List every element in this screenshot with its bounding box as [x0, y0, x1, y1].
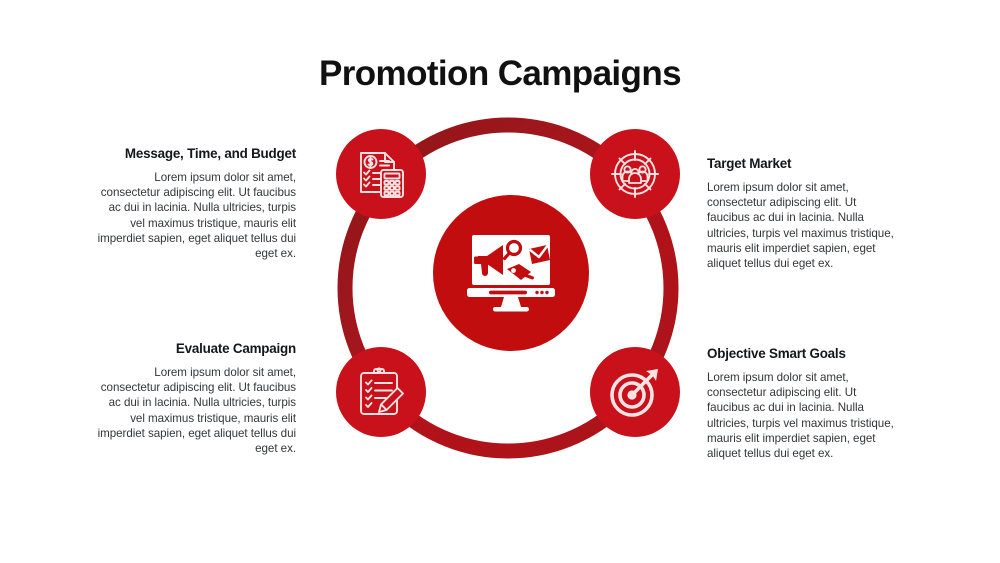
text-block-target-market: Target Market Lorem ipsum dolor sit amet… [707, 155, 897, 271]
block-heading: Objective Smart Goals [707, 345, 897, 363]
crosshair-people-icon [609, 148, 661, 200]
block-body: Lorem ipsum dolor sit amet, consectetur … [96, 170, 296, 261]
page-title: Promotion Campaigns [0, 52, 1000, 96]
block-body: Lorem ipsum dolor sit amet, consectetur … [707, 370, 897, 461]
block-heading: Target Market [707, 155, 897, 173]
block-heading: Message, Time, and Budget [96, 145, 296, 163]
text-block-message-time-budget: Message, Time, and Budget Lorem ipsum do… [96, 145, 296, 261]
invoice-calculator-icon [355, 148, 407, 200]
node-target-market[interactable] [590, 129, 680, 219]
clipboard-pencil-icon [355, 366, 407, 418]
infographic-slide: Promotion Campaigns [0, 0, 1000, 563]
node-evaluate-campaign[interactable] [336, 347, 426, 437]
node-message-time-budget[interactable] [336, 129, 426, 219]
block-body: Lorem ipsum dolor sit amet, consectetur … [96, 365, 296, 456]
text-block-objective-smart-goals: Objective Smart Goals Lorem ipsum dolor … [707, 345, 897, 461]
text-block-evaluate-campaign: Evaluate Campaign Lorem ipsum dolor sit … [96, 340, 296, 456]
block-heading: Evaluate Campaign [96, 340, 296, 358]
cycle-diagram [323, 103, 693, 473]
center-node [433, 195, 589, 351]
node-objective-smart-goals[interactable] [590, 347, 680, 437]
dartboard-arrow-icon [608, 365, 662, 419]
block-body: Lorem ipsum dolor sit amet, consectetur … [707, 180, 897, 271]
monitor-marketing-icon [463, 232, 559, 314]
